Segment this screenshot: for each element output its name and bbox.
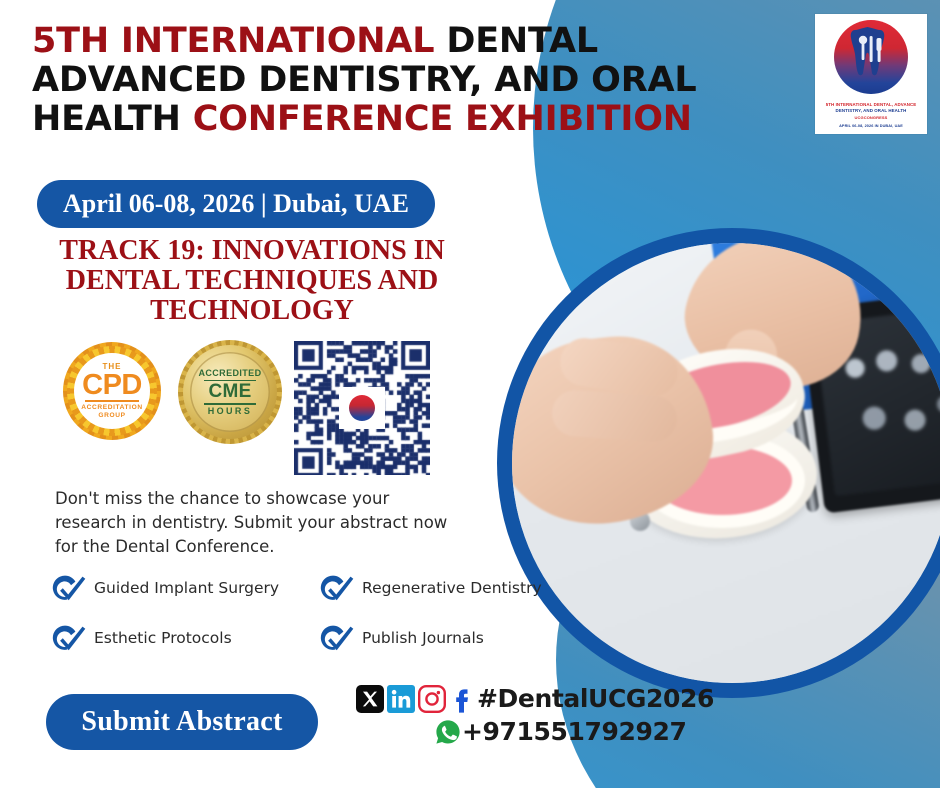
date-location-pill: April 06-08, 2026 | Dubai, UAE xyxy=(37,180,435,228)
title-line1-red: 5TH INTERNATIONAL xyxy=(32,21,434,61)
track-heading: TRACK 19: INNOVATIONS IN DENTAL TECHNIQU… xyxy=(42,236,462,326)
checklist-label: Guided Implant Surgery xyxy=(94,579,279,597)
cme-top-label: ACCREDITED xyxy=(198,368,261,379)
social-icons-row: #DentalUCG2026 xyxy=(356,684,696,713)
cme-divider-bottom xyxy=(204,403,256,405)
checklist-label: Regenerative Dentistry xyxy=(362,579,542,597)
cpd-accreditation-badge: THE CPD ACCREDITATION GROUP xyxy=(63,342,161,440)
description-paragraph: Don't miss the chance to showcase your r… xyxy=(55,487,455,559)
logo-caption-line2: DENTISTRY, AND ORAL HEALTH xyxy=(819,108,923,114)
dental-clinic-photo xyxy=(512,243,940,683)
checkmark-icon xyxy=(314,568,354,608)
social-hashtag: #DentalUCG2026 xyxy=(477,684,714,713)
submit-abstract-button[interactable]: Submit Abstract xyxy=(46,694,318,750)
poster-title: 5TH INTERNATIONAL DENTAL ADVANCED DENTIS… xyxy=(32,22,692,139)
qr-code[interactable] xyxy=(294,341,430,475)
instagram-icon[interactable] xyxy=(418,685,446,713)
linkedin-icon[interactable] xyxy=(387,685,415,713)
qr-center-logo xyxy=(339,387,385,429)
cme-accreditation-badge: ACCREDITED CME HOURS xyxy=(178,340,282,444)
title-line2: ADVANCED DENTISTRY, AND ORAL xyxy=(32,60,696,100)
whatsapp-phone-number: +971551792927 xyxy=(462,717,687,746)
whatsapp-contact-row: +971551792927 xyxy=(356,717,696,746)
facebook-icon[interactable] xyxy=(449,685,477,713)
cme-sub-label: HOURS xyxy=(208,406,253,417)
tooth-logo-icon xyxy=(849,24,893,82)
checkmark-icon xyxy=(314,618,354,658)
title-line3-red: CONFERENCE EXHIBITION xyxy=(193,99,692,139)
cpd-sub-line1: ACCREDITATION xyxy=(81,404,142,412)
checkmark-icon xyxy=(46,618,86,658)
logo-caption: 5TH INTERNATIONAL DENTAL, ADVANCE DENTIS… xyxy=(819,102,923,129)
checklist-row: Guided Implant Surgery Regenerative Dent… xyxy=(46,568,566,608)
checklist-item: Publish Journals xyxy=(314,618,484,658)
checklist-row: Esthetic Protocols Publish Journals xyxy=(46,618,566,658)
cpd-sub-line2: GROUP xyxy=(98,412,125,420)
checklist-label: Esthetic Protocols xyxy=(94,629,232,647)
checklist-label: Publish Journals xyxy=(362,629,484,647)
checklist-item: Esthetic Protocols xyxy=(46,618,314,658)
x-icon[interactable] xyxy=(356,685,384,713)
checkmark-icon xyxy=(46,568,86,608)
topics-checklist: Guided Implant Surgery Regenerative Dent… xyxy=(46,568,566,668)
social-contact-block: #DentalUCG2026 +971551792927 xyxy=(356,684,696,746)
conference-poster: 5TH INTERNATIONAL DENTAL, ADVANCE DENTIS… xyxy=(0,0,940,788)
cpd-divider xyxy=(85,400,139,402)
date-location-text: April 06-08, 2026 | Dubai, UAE xyxy=(63,189,409,219)
cme-main-label: CME xyxy=(208,382,251,402)
title-line1-black: DENTAL xyxy=(446,21,598,61)
checklist-item: Regenerative Dentistry xyxy=(314,568,542,608)
whatsapp-icon[interactable] xyxy=(434,718,462,746)
logo-caption-line3: UCGCONGRESS xyxy=(819,115,923,121)
checklist-item: Guided Implant Surgery xyxy=(46,568,314,608)
submit-abstract-label: Submit Abstract xyxy=(81,706,282,738)
logo-caption-line4: APRIL 06-08, 2026 IN DUBAI, UAE xyxy=(819,123,923,129)
cpd-main-label: CPD xyxy=(82,371,142,399)
title-line3-black: HEALTH xyxy=(32,99,181,139)
conference-logo-badge: 5TH INTERNATIONAL DENTAL, ADVANCE DENTIS… xyxy=(815,14,927,134)
